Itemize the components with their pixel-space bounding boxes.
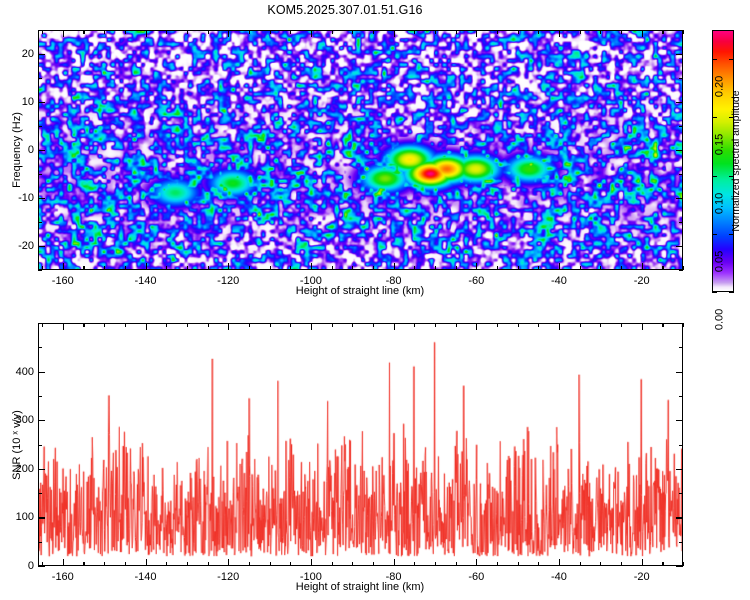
axis-minor-tick <box>373 30 374 34</box>
axis-minor-tick <box>104 30 105 34</box>
axis-minor-tick <box>621 562 622 566</box>
axis-minor-tick <box>290 562 291 566</box>
axis-minor-tick <box>679 542 683 543</box>
y-tick-label: -20 <box>4 240 34 252</box>
axis-major-tick <box>38 517 45 518</box>
x-tick-label: -60 <box>468 275 484 287</box>
axis-minor-tick <box>538 562 539 566</box>
axis-major-tick <box>394 30 395 37</box>
axis-major-tick <box>676 372 683 373</box>
axis-minor-tick <box>662 266 663 270</box>
axis-minor-tick <box>208 323 209 327</box>
axis-minor-tick <box>679 347 683 348</box>
axis-minor-tick <box>208 562 209 566</box>
axis-minor-tick <box>42 323 43 327</box>
axis-major-tick <box>676 102 683 103</box>
axis-minor-tick <box>332 30 333 34</box>
axis-minor-tick <box>125 562 126 566</box>
axis-major-tick <box>559 30 560 37</box>
axis-minor-tick <box>600 323 601 327</box>
axis-minor-tick <box>456 562 457 566</box>
axis-minor-tick <box>456 323 457 327</box>
axis-minor-tick <box>38 396 42 397</box>
colorbar-tick <box>712 59 717 60</box>
colorbar-tick-label: 0.10 <box>713 192 725 213</box>
axis-minor-tick <box>497 323 498 327</box>
snr-y-axis-label: SNR (10 ˣ v/v) <box>11 410 23 480</box>
axis-minor-tick <box>270 30 271 34</box>
axis-minor-tick <box>373 323 374 327</box>
axis-minor-tick <box>290 323 291 327</box>
axis-minor-tick <box>42 266 43 270</box>
x-tick-label: -40 <box>551 571 567 583</box>
axis-minor-tick <box>679 323 683 324</box>
x-tick-label: -120 <box>217 571 239 583</box>
axis-minor-tick <box>187 266 188 270</box>
axis-minor-tick <box>414 266 415 270</box>
axis-minor-tick <box>373 266 374 270</box>
axis-minor-tick <box>580 30 581 34</box>
axis-minor-tick <box>600 266 601 270</box>
axis-minor-tick <box>662 562 663 566</box>
x-tick-label: -40 <box>551 275 567 287</box>
axis-minor-tick <box>352 266 353 270</box>
axis-minor-tick <box>662 323 663 327</box>
axis-major-tick <box>476 323 477 330</box>
axis-minor-tick <box>435 323 436 327</box>
y-tick-label: 20 <box>4 48 34 60</box>
axis-minor-tick <box>435 266 436 270</box>
x-tick-label: -140 <box>134 571 156 583</box>
axis-minor-tick <box>621 266 622 270</box>
axis-minor-tick <box>249 30 250 34</box>
axis-minor-tick <box>497 266 498 270</box>
axis-minor-tick <box>497 562 498 566</box>
axis-minor-tick <box>456 30 457 34</box>
figure-title: KOM5.2025.307.01.51.G16 <box>0 3 690 17</box>
axis-major-tick <box>228 323 229 330</box>
axis-minor-tick <box>104 323 105 327</box>
axis-major-tick <box>676 420 683 421</box>
axis-minor-tick <box>621 30 622 34</box>
colorbar-label: Normalized spectral amplitude <box>730 90 742 231</box>
axis-major-tick <box>63 323 64 330</box>
x-tick-label: -160 <box>52 571 74 583</box>
axis-minor-tick <box>518 30 519 34</box>
axis-minor-tick <box>208 266 209 270</box>
axis-minor-tick <box>580 562 581 566</box>
axis-major-tick <box>38 198 45 199</box>
axis-minor-tick <box>435 562 436 566</box>
axis-minor-tick <box>683 266 684 270</box>
figure-root: KOM5.2025.307.01.51.G16 -160-140-120-100… <box>0 0 750 600</box>
axis-minor-tick <box>83 266 84 270</box>
snr-panel <box>38 323 683 566</box>
snr-trace-plot <box>39 324 682 565</box>
axis-minor-tick <box>187 562 188 566</box>
x-tick-label: -20 <box>634 275 650 287</box>
axis-minor-tick <box>600 562 601 566</box>
axis-major-tick <box>38 420 45 421</box>
spectrogram-panel <box>38 30 683 270</box>
axis-minor-tick <box>290 30 291 34</box>
x-tick-label: -60 <box>468 571 484 583</box>
axis-minor-tick <box>42 30 43 34</box>
colorbar-tick-label: 0.15 <box>713 134 725 155</box>
axis-major-tick <box>676 198 683 199</box>
axis-minor-tick <box>249 562 250 566</box>
axis-major-tick <box>476 30 477 37</box>
axis-minor-tick <box>38 445 42 446</box>
axis-minor-tick <box>538 323 539 327</box>
axis-major-tick <box>63 263 64 270</box>
colorbar-tick <box>729 292 734 293</box>
axis-minor-tick <box>270 266 271 270</box>
axis-minor-tick <box>125 30 126 34</box>
axis-minor-tick <box>332 266 333 270</box>
axis-major-tick <box>676 566 683 567</box>
axis-minor-tick <box>373 562 374 566</box>
axis-minor-tick <box>38 323 42 324</box>
axis-major-tick <box>676 517 683 518</box>
axis-minor-tick <box>208 30 209 34</box>
axis-minor-tick <box>662 30 663 34</box>
axis-major-tick <box>146 263 147 270</box>
axis-major-tick <box>676 54 683 55</box>
axis-major-tick <box>559 323 560 330</box>
axis-minor-tick <box>580 266 581 270</box>
axis-major-tick <box>476 559 477 566</box>
colorbar-tick-label: 0.05 <box>713 250 725 271</box>
axis-minor-tick <box>435 30 436 34</box>
y-tick-label: 400 <box>4 366 34 378</box>
axis-major-tick <box>642 263 643 270</box>
axis-minor-tick <box>249 266 250 270</box>
axis-minor-tick <box>270 562 271 566</box>
axis-minor-tick <box>683 323 684 327</box>
y-tick-label: -10 <box>4 192 34 204</box>
axis-minor-tick <box>679 270 683 271</box>
axis-minor-tick <box>679 30 683 31</box>
axis-minor-tick <box>166 30 167 34</box>
axis-minor-tick <box>38 30 42 31</box>
axis-minor-tick <box>38 174 42 175</box>
y-tick-label: 100 <box>4 511 34 523</box>
axis-minor-tick <box>38 347 42 348</box>
axis-minor-tick <box>679 445 683 446</box>
axis-major-tick <box>559 263 560 270</box>
axis-minor-tick <box>683 30 684 34</box>
axis-minor-tick <box>290 266 291 270</box>
axis-major-tick <box>146 559 147 566</box>
colorbar-tick-label: 0.00 <box>713 309 725 330</box>
axis-minor-tick <box>352 323 353 327</box>
axis-major-tick <box>559 559 560 566</box>
colorbar-tick <box>712 234 717 235</box>
axis-major-tick <box>38 246 45 247</box>
axis-minor-tick <box>679 396 683 397</box>
x-tick-label: -140 <box>134 275 156 287</box>
axis-minor-tick <box>414 562 415 566</box>
axis-minor-tick <box>104 266 105 270</box>
colorbar-tick <box>729 59 734 60</box>
axis-minor-tick <box>621 323 622 327</box>
axis-minor-tick <box>414 323 415 327</box>
axis-major-tick <box>63 559 64 566</box>
axis-major-tick <box>676 150 683 151</box>
axis-minor-tick <box>679 126 683 127</box>
axis-minor-tick <box>538 30 539 34</box>
axis-major-tick <box>394 323 395 330</box>
axis-major-tick <box>38 150 45 151</box>
axis-minor-tick <box>166 562 167 566</box>
axis-major-tick <box>228 263 229 270</box>
axis-minor-tick <box>414 30 415 34</box>
axis-major-tick <box>642 323 643 330</box>
axis-minor-tick <box>83 562 84 566</box>
axis-major-tick <box>311 559 312 566</box>
axis-major-tick <box>63 30 64 37</box>
spectrogram-x-axis-label: Height of straight line (km) <box>296 285 424 297</box>
axis-major-tick <box>146 30 147 37</box>
axis-minor-tick <box>679 174 683 175</box>
axis-major-tick <box>38 372 45 373</box>
axis-minor-tick <box>125 266 126 270</box>
colorbar-tick <box>729 234 734 235</box>
axis-major-tick <box>38 54 45 55</box>
y-tick-label: 10 <box>4 96 34 108</box>
axis-minor-tick <box>600 30 601 34</box>
axis-minor-tick <box>125 323 126 327</box>
axis-minor-tick <box>83 30 84 34</box>
axis-minor-tick <box>332 562 333 566</box>
axis-major-tick <box>228 30 229 37</box>
x-tick-label: -120 <box>217 275 239 287</box>
axis-minor-tick <box>270 323 271 327</box>
colorbar-tick <box>712 176 717 177</box>
axis-major-tick <box>394 559 395 566</box>
axis-minor-tick <box>38 493 42 494</box>
axis-minor-tick <box>538 266 539 270</box>
axis-major-tick <box>38 102 45 103</box>
axis-minor-tick <box>187 323 188 327</box>
axis-minor-tick <box>104 562 105 566</box>
axis-major-tick <box>311 263 312 270</box>
axis-minor-tick <box>166 323 167 327</box>
axis-major-tick <box>228 559 229 566</box>
y-tick-label: 0 <box>4 560 34 572</box>
axis-major-tick <box>476 263 477 270</box>
axis-minor-tick <box>352 562 353 566</box>
axis-minor-tick <box>249 323 250 327</box>
axis-minor-tick <box>38 542 42 543</box>
axis-major-tick <box>311 323 312 330</box>
x-tick-label: -160 <box>52 275 74 287</box>
axis-minor-tick <box>83 323 84 327</box>
axis-major-tick <box>676 469 683 470</box>
axis-minor-tick <box>187 30 188 34</box>
axis-minor-tick <box>518 562 519 566</box>
axis-minor-tick <box>679 493 683 494</box>
axis-minor-tick <box>38 222 42 223</box>
x-tick-label: -20 <box>634 571 650 583</box>
axis-minor-tick <box>679 78 683 79</box>
axis-major-tick <box>642 30 643 37</box>
axis-minor-tick <box>332 323 333 327</box>
axis-minor-tick <box>580 323 581 327</box>
axis-minor-tick <box>352 30 353 34</box>
axis-minor-tick <box>38 270 42 271</box>
axis-major-tick <box>146 323 147 330</box>
snr-x-axis-label: Height of straight line (km) <box>296 581 424 593</box>
spectrogram-image <box>39 31 682 269</box>
axis-minor-tick <box>683 562 684 566</box>
axis-major-tick <box>311 30 312 37</box>
axis-minor-tick <box>166 266 167 270</box>
axis-minor-tick <box>497 30 498 34</box>
axis-minor-tick <box>38 78 42 79</box>
axis-minor-tick <box>38 126 42 127</box>
axis-minor-tick <box>456 266 457 270</box>
axis-major-tick <box>394 263 395 270</box>
axis-major-tick <box>676 246 683 247</box>
colorbar-tick <box>712 292 717 293</box>
colorbar-tick <box>712 117 717 118</box>
colorbar-tick-label: 0.20 <box>713 76 725 97</box>
axis-minor-tick <box>679 222 683 223</box>
axis-minor-tick <box>518 323 519 327</box>
axis-minor-tick <box>518 266 519 270</box>
axis-major-tick <box>38 566 45 567</box>
spectrogram-y-axis-label: Frequency (Hz) <box>11 112 23 188</box>
axis-major-tick <box>38 469 45 470</box>
axis-major-tick <box>642 559 643 566</box>
